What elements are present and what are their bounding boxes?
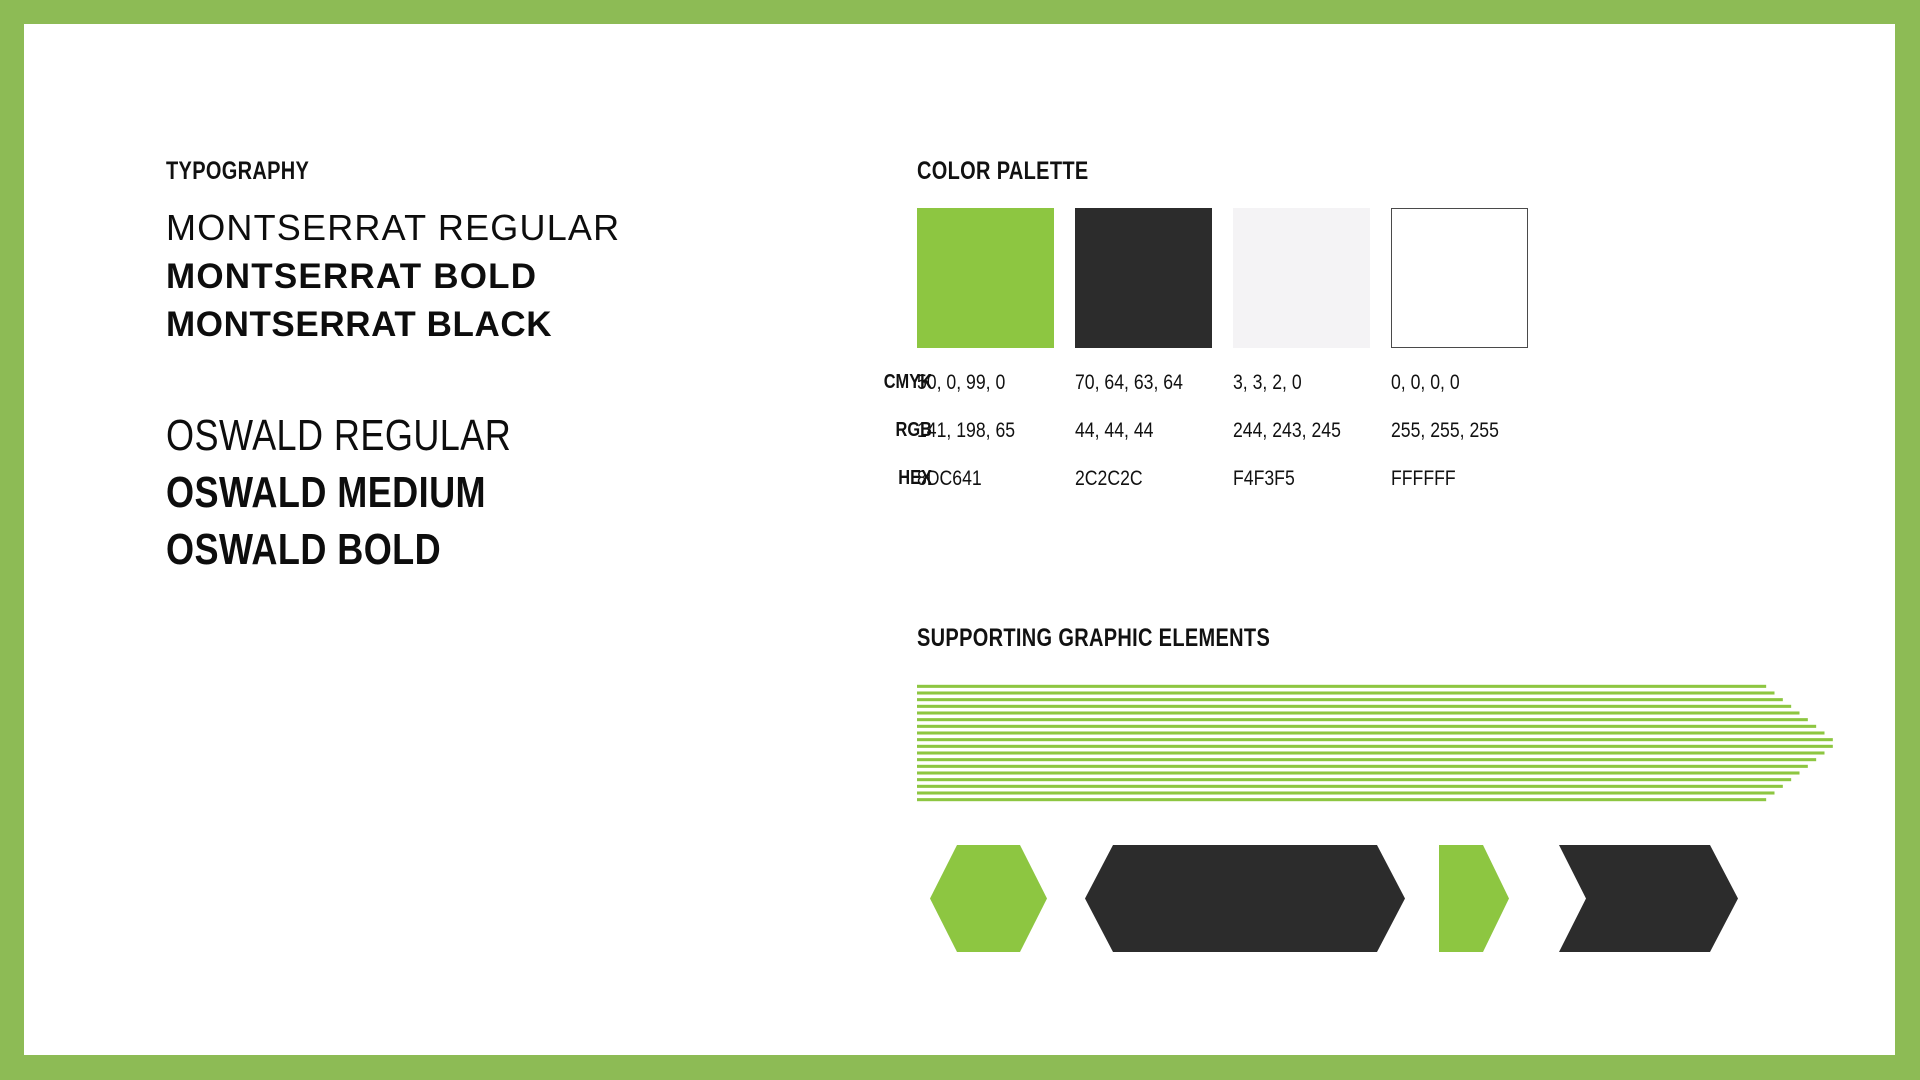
row-label-cmyk: CMYK bbox=[768, 371, 932, 394]
arrow-stripe bbox=[917, 785, 1783, 788]
arrow-stripe bbox=[917, 691, 1775, 694]
arrow-stripe bbox=[917, 791, 1775, 794]
color-swatch-row bbox=[917, 208, 1677, 348]
color-value-row-cmyk: CMYK 50, 0, 99, 0 70, 64, 63, 64 3, 3, 2… bbox=[917, 369, 1677, 417]
color-value-row-rgb: RGB 141, 198, 65 44, 44, 44 244, 243, 24… bbox=[917, 417, 1677, 465]
geometric-shapes-row bbox=[917, 831, 1852, 966]
oswald-specimen-group: OSWALD REGULAR OSWALD MEDIUM OSWALD BOLD bbox=[166, 414, 806, 572]
arrow-stripe bbox=[917, 798, 1766, 801]
type-sample-montserrat-regular: MONTSERRAT REGULAR bbox=[166, 210, 806, 246]
color-swatch-charcoal bbox=[1075, 208, 1212, 348]
striped-arrow-graphic bbox=[917, 683, 1852, 803]
arrow-stripe bbox=[917, 751, 1825, 754]
hex-value-off-white: F4F3F5 bbox=[1233, 467, 1295, 491]
arrow-stripe bbox=[917, 698, 1783, 701]
arrow-stripe bbox=[917, 778, 1791, 781]
color-swatch-white bbox=[1391, 208, 1528, 348]
arrow-stripe bbox=[917, 731, 1825, 734]
cmyk-value-brand-green: 50, 0, 99, 0 bbox=[917, 371, 1005, 395]
arrow-stripe bbox=[917, 705, 1791, 708]
arrow-stripe bbox=[917, 771, 1800, 774]
arrow-stripe bbox=[917, 718, 1808, 721]
supporting-graphics-section: SUPPORTING GRAPHIC ELEMENTS bbox=[917, 624, 1857, 966]
hex-value-white: FFFFFF bbox=[1391, 467, 1456, 491]
rgb-value-off-white: 244, 243, 245 bbox=[1233, 419, 1341, 443]
arrow-stripe bbox=[917, 738, 1833, 741]
rgb-value-brand-green: 141, 198, 65 bbox=[917, 419, 1015, 443]
brand-style-guide-sheet: TYPOGRAPHY MONTSERRAT REGULAR MONTSERRAT… bbox=[0, 0, 1920, 1080]
arrow-stripe bbox=[917, 711, 1800, 714]
color-value-table: CMYK 50, 0, 99, 0 70, 64, 63, 64 3, 3, 2… bbox=[917, 369, 1677, 513]
hex-value-brand-green: 8DC641 bbox=[917, 467, 982, 491]
color-palette-section: COLOR PALETTE CMYK 50, 0, 99, 0 70, 64, … bbox=[917, 157, 1677, 513]
type-sample-montserrat-bold: MONTSERRAT BOLD bbox=[166, 259, 806, 294]
shape-chevron-arrow-dark bbox=[1559, 845, 1738, 952]
shape-elongated-hexagon-dark bbox=[1085, 845, 1405, 952]
cmyk-value-off-white: 3, 3, 2, 0 bbox=[1233, 371, 1302, 395]
hex-value-charcoal: 2C2C2C bbox=[1075, 467, 1143, 491]
type-sample-oswald-bold: OSWALD BOLD bbox=[166, 528, 691, 572]
row-label-rgb: RGB bbox=[768, 419, 932, 442]
color-palette-heading: COLOR PALETTE bbox=[917, 157, 1525, 186]
rgb-value-white: 255, 255, 255 bbox=[1391, 419, 1499, 443]
type-sample-oswald-medium: OSWALD MEDIUM bbox=[166, 471, 691, 515]
color-value-row-hex: HEX 8DC641 2C2C2C F4F3F5 FFFFFF bbox=[917, 465, 1677, 513]
color-swatch-brand-green bbox=[917, 208, 1054, 348]
type-sample-montserrat-black: MONTSERRAT BLACK bbox=[166, 307, 806, 342]
arrow-stripe bbox=[917, 758, 1816, 761]
shape-hexagon-green bbox=[930, 845, 1047, 952]
arrow-stripe bbox=[917, 685, 1766, 688]
row-label-hex: HEX bbox=[768, 467, 932, 490]
arrow-stripe bbox=[917, 745, 1833, 748]
typography-section: TYPOGRAPHY MONTSERRAT REGULAR MONTSERRAT… bbox=[166, 157, 806, 585]
cmyk-value-charcoal: 70, 64, 63, 64 bbox=[1075, 371, 1183, 395]
type-sample-oswald-regular: OSWALD REGULAR bbox=[166, 414, 691, 458]
montserrat-specimen-group: MONTSERRAT REGULAR MONTSERRAT BOLD MONTS… bbox=[166, 210, 806, 342]
arrow-stripe bbox=[917, 725, 1816, 728]
rgb-value-charcoal: 44, 44, 44 bbox=[1075, 419, 1153, 443]
cmyk-value-white: 0, 0, 0, 0 bbox=[1391, 371, 1460, 395]
color-swatch-off-white bbox=[1233, 208, 1370, 348]
shape-half-hexagon-green bbox=[1439, 845, 1509, 952]
typography-heading: TYPOGRAPHY bbox=[166, 157, 678, 186]
arrow-stripe bbox=[917, 765, 1808, 768]
sheet-canvas: TYPOGRAPHY MONTSERRAT REGULAR MONTSERRAT… bbox=[24, 24, 1895, 1055]
supporting-graphics-heading: SUPPORTING GRAPHIC ELEMENTS bbox=[917, 624, 1669, 653]
